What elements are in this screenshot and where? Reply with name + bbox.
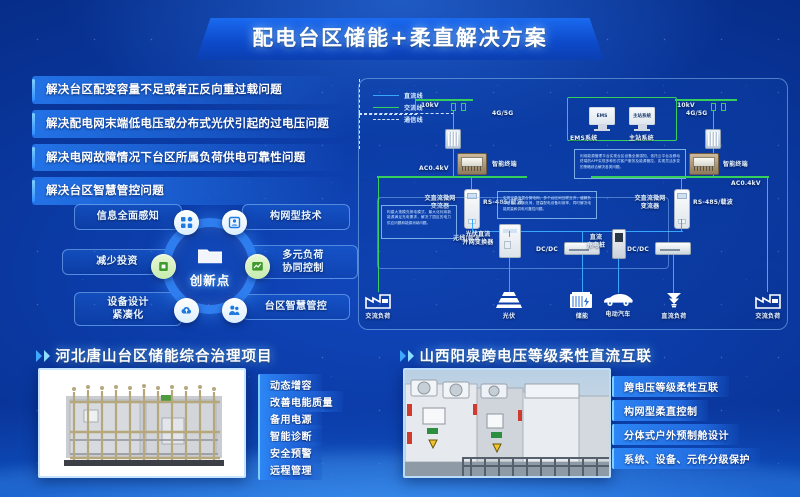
legend-swatch-comm bbox=[373, 119, 399, 120]
legend-swatch-ac bbox=[373, 107, 399, 108]
dcdc-left-label: DC/DC bbox=[536, 246, 558, 254]
busbar-left bbox=[415, 99, 473, 101]
electric-car-icon bbox=[588, 291, 648, 307]
line-right-to-inverter bbox=[681, 176, 682, 190]
title-ribbon: 配电台区储能+柔直解决方案 bbox=[196, 18, 604, 60]
case-photo-left-image bbox=[40, 370, 246, 478]
pv-conv-riser bbox=[509, 231, 510, 237]
bottom-icon-label: 直流负荷 bbox=[644, 311, 704, 320]
busbar-left-drop bbox=[415, 99, 416, 111]
ems-screen-label: EMS bbox=[589, 107, 615, 125]
legend-swatch-dc bbox=[373, 95, 399, 96]
case-title-right: 山西阳泉跨电压等级柔性直流互联 bbox=[420, 345, 653, 366]
lv-bus-left bbox=[377, 176, 527, 178]
master-system-label: 主站系统 bbox=[629, 135, 654, 143]
wheel-hub: 创新点 bbox=[165, 246, 255, 289]
master-monitor: 主站系统 bbox=[629, 107, 655, 131]
bottom-icon-pv: 光伏 bbox=[479, 291, 539, 320]
technical-diagram: 直流线 交流线 通信线 10kV AC0.4kV 交直流微网 bbox=[358, 78, 788, 330]
charger-drop bbox=[618, 259, 619, 293]
bottom-icon-label: 电动汽车 bbox=[588, 309, 648, 318]
voltage-label-left-lv: AC0.4kV bbox=[419, 165, 449, 173]
folder-icon bbox=[165, 246, 255, 269]
callout-platform: 利用能源管理平台实现台区设备全景感知，依托云平台及移动终端的APP实现多种形式客… bbox=[574, 149, 686, 179]
innovation-box-compact-design-line1: 设备设计 bbox=[107, 297, 149, 308]
case-tag: 跨电压等级柔性互联 bbox=[612, 376, 729, 397]
case-header-left: 河北唐山台区储能综合治理项目 bbox=[36, 345, 273, 366]
smart-terminal-left bbox=[457, 153, 487, 175]
switch-right-a bbox=[711, 103, 716, 111]
factory-icon bbox=[348, 291, 408, 309]
wireless-label-right-4g: 4G/5G bbox=[686, 110, 707, 118]
problem-item: 解决台区配变容量不足或者正反向重过载问题 bbox=[32, 76, 344, 104]
case-photo-right-image bbox=[405, 370, 611, 478]
bottom-icon-dc-load: 直流负荷 bbox=[644, 291, 704, 320]
dcdc-left-drop bbox=[582, 255, 583, 293]
ems-system-label: EMS系统 bbox=[570, 135, 597, 143]
voltage-label-right-lv: AC0.4kV bbox=[731, 180, 761, 188]
switch-left-b bbox=[461, 103, 466, 111]
innovation-wheel-section: 信息全面感知 减少投资 设备设计 紧凑化 构网型技术 多元负荷 协同控制 台区智… bbox=[62, 200, 358, 330]
dc-bus-right-riser bbox=[681, 219, 682, 231]
cloud-icon bbox=[174, 298, 199, 323]
factory-icon bbox=[738, 291, 798, 309]
legend-row-comm: 通信线 bbox=[373, 115, 423, 124]
pv-dc-converter bbox=[499, 224, 521, 258]
double-arrow-icon bbox=[400, 350, 414, 362]
double-arrow-icon bbox=[36, 350, 50, 362]
rs485-label-right: RS-485/载波 bbox=[693, 199, 733, 207]
lightbulb-icon bbox=[644, 291, 704, 309]
comm-line-left-up bbox=[359, 79, 360, 113]
case-header-right: 山西阳泉跨电压等级柔性直流互联 bbox=[400, 345, 652, 366]
case-tag: 系统、设备、元件分级保护 bbox=[612, 448, 760, 469]
grid-icon bbox=[174, 210, 199, 235]
dcdc-right-drop bbox=[673, 255, 674, 293]
transformer-right bbox=[705, 129, 721, 149]
voltage-label-right-hv: 10kV bbox=[677, 102, 695, 110]
pv-converter-line2: 并网变换器 bbox=[462, 239, 493, 246]
people-icon bbox=[222, 298, 247, 323]
line-left-trafo-to-lv bbox=[453, 149, 454, 177]
poster-root: 配电台区储能+柔直解决方案 解决台区配变容量不足或者正反向重过载问题 解决配电网… bbox=[0, 0, 800, 497]
page-title: 配电台区储能+柔直解决方案 bbox=[252, 22, 548, 52]
transformer-left bbox=[445, 129, 461, 149]
bottom-icon-label: 光伏 bbox=[479, 311, 539, 320]
dcdc-right bbox=[655, 242, 691, 255]
comm-line-right-down bbox=[359, 115, 360, 149]
bottom-icon-label: 交流负荷 bbox=[738, 311, 798, 320]
pv-converter-label: 光伏直流 并网变换器 bbox=[457, 231, 499, 246]
ribbon-tail-left bbox=[168, 60, 210, 69]
busbar-right bbox=[675, 99, 737, 101]
pv-converter-line1: 光伏直流 bbox=[466, 231, 491, 238]
charger-line2: 充电桩 bbox=[587, 242, 606, 249]
lv-bus-right bbox=[591, 176, 769, 178]
voltage-label-left-hv: 10kV bbox=[421, 102, 439, 110]
bottom-icon-ac-load-left: 交流负荷 bbox=[348, 291, 408, 320]
innovation-box-multi-load-line2: 协同控制 bbox=[282, 263, 324, 274]
wheel-hub-label: 创新点 bbox=[190, 273, 231, 288]
smart-terminal-left-label: 智能终端 bbox=[492, 161, 517, 169]
bottom-icon-ac-load-right: 交流负荷 bbox=[738, 291, 798, 320]
charger-label: 直流 充电桩 bbox=[581, 234, 611, 249]
case-photo-left bbox=[38, 368, 246, 478]
switch-left-a bbox=[451, 103, 456, 111]
bottom-icon-label: 交流负荷 bbox=[348, 311, 408, 320]
line-right-ac-load bbox=[767, 176, 768, 292]
smart-terminal-right-label: 智能终端 bbox=[723, 161, 748, 169]
innovation-wheel: 创新点 bbox=[150, 206, 270, 326]
switch-right-b bbox=[721, 103, 726, 111]
dcdc-right-label: DC/DC bbox=[627, 246, 649, 254]
case-tag: 远程管理 bbox=[258, 459, 322, 480]
legend-label-comm: 通信线 bbox=[404, 115, 423, 124]
solar-panel-icon bbox=[479, 291, 539, 309]
case-tag: 分体式户外预制舱设计 bbox=[612, 424, 739, 445]
innovation-box-compact-design-line2: 紧凑化 bbox=[112, 310, 143, 321]
bottom-icon-ev: 电动汽车 bbox=[588, 291, 648, 318]
wireless-label-left-4g: 4G/5G bbox=[492, 110, 513, 118]
master-screen-label: 主站系统 bbox=[629, 107, 655, 125]
problem-list: 解决台区配变容量不足或者正反向重过载问题 解决配电网末端低电压或分布式光伏引起的… bbox=[32, 76, 344, 211]
smart-terminal-right bbox=[689, 153, 719, 175]
problem-item: 解决电网故障情况下台区所属负荷供电可靠性问题 bbox=[32, 144, 344, 172]
ribbon-tail-right bbox=[590, 60, 632, 69]
box-icon bbox=[222, 210, 247, 235]
case-title-left: 河北唐山台区储能综合治理项目 bbox=[56, 345, 273, 366]
charger-line1: 直流 bbox=[590, 234, 602, 241]
line-left-to-inverter bbox=[471, 176, 472, 190]
innovation-box-multi-load-line1: 多元负荷 bbox=[282, 250, 324, 261]
problem-item: 解决配电网末端低电压或分布式光伏引起的过电压问题 bbox=[32, 110, 344, 138]
ems-monitor: EMS bbox=[589, 107, 615, 131]
chart-icon bbox=[245, 254, 270, 279]
case-tag: 构网型柔直控制 bbox=[612, 400, 708, 421]
title-banner: 配电台区储能+柔直解决方案 bbox=[0, 16, 800, 62]
shield-icon bbox=[151, 254, 176, 279]
dc-charging-pile bbox=[612, 229, 626, 259]
case-photo-right bbox=[403, 368, 611, 478]
pv-conv-drop bbox=[509, 258, 510, 293]
